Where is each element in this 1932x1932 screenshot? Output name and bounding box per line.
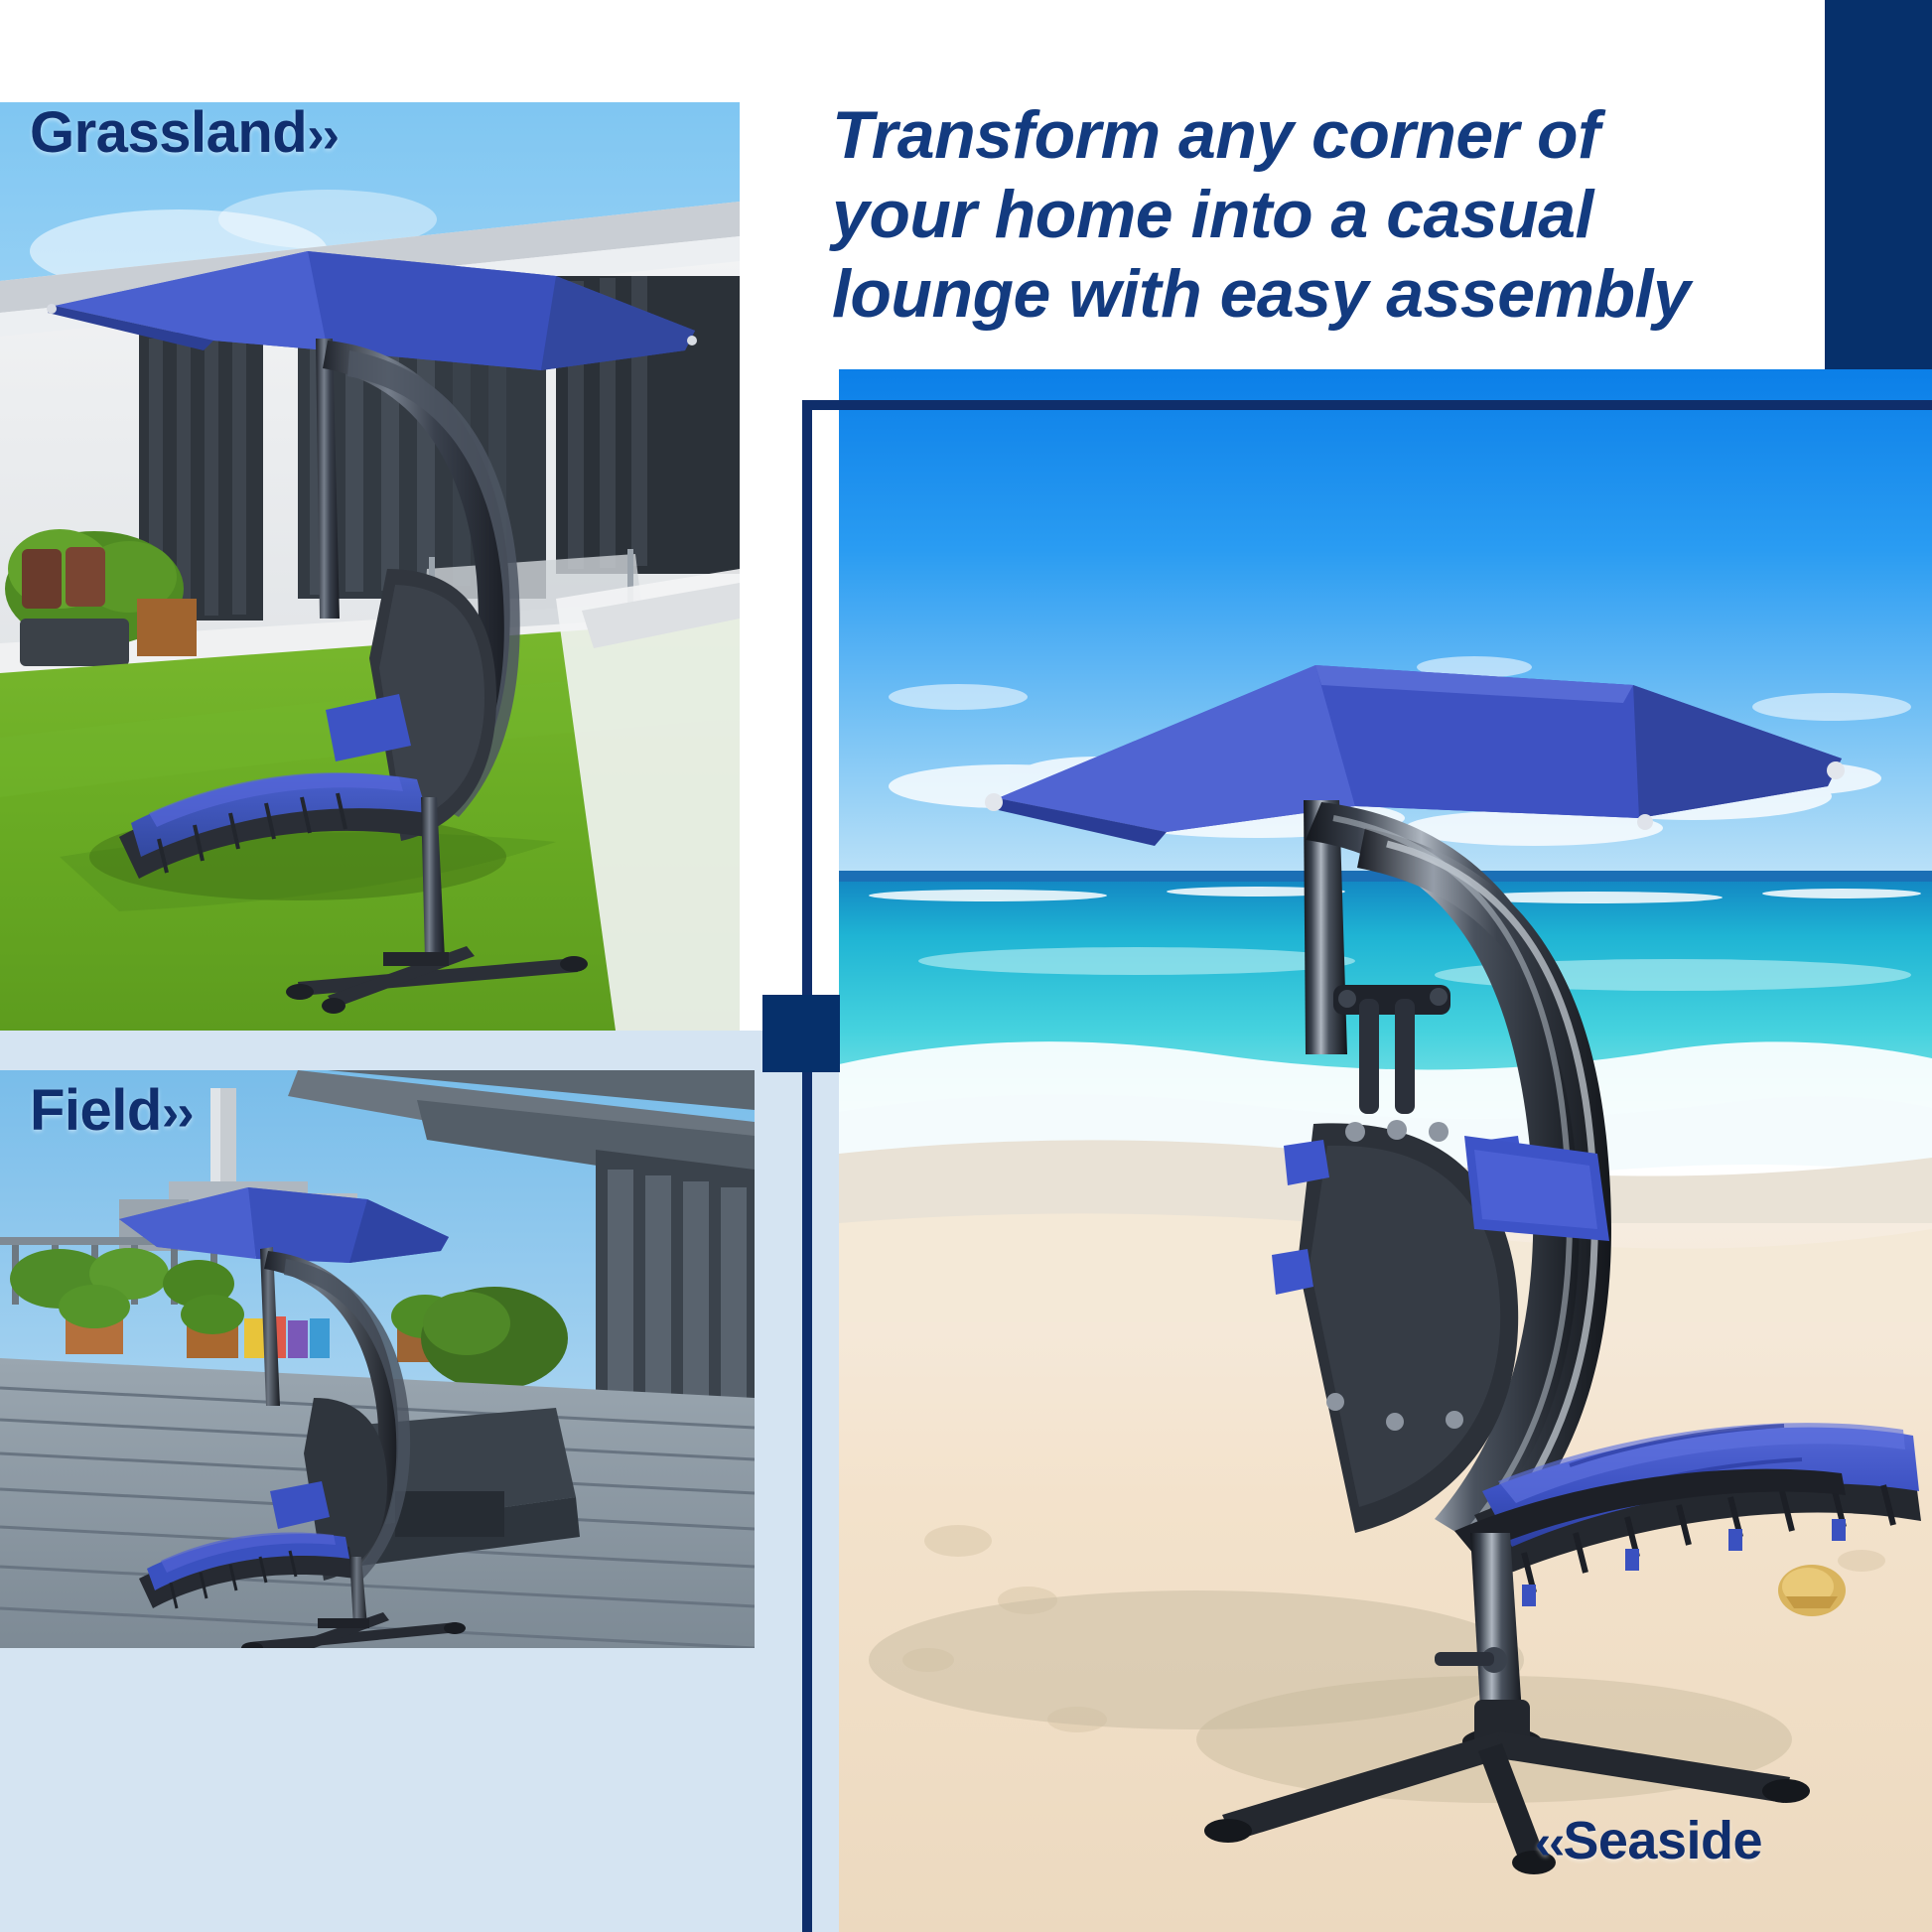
headline-line-2: your home into a casual — [832, 175, 1706, 254]
frame-line-left — [802, 400, 812, 1932]
field-scene — [0, 1070, 755, 1648]
headline-line-1: Transform any corner of — [832, 95, 1706, 175]
panel-field[interactable] — [0, 1070, 755, 1648]
poster-canvas: Transform any corner of your home into a… — [0, 0, 1932, 1932]
frame-line-top — [802, 400, 1932, 410]
headline: Transform any corner of your home into a… — [832, 95, 1706, 335]
label-field: Field›› — [30, 1077, 193, 1144]
navy-accent-square — [762, 995, 840, 1072]
navy-corner-block — [1825, 0, 1932, 397]
chevron-right-icon-field: ›› — [162, 1084, 193, 1142]
label-seaside: ‹‹Seaside — [1535, 1810, 1762, 1871]
chevron-left-icon-seaside: ‹‹ — [1535, 1816, 1563, 1869]
headline-line-3: lounge with easy assembly — [832, 254, 1706, 334]
panel-grassland[interactable] — [0, 102, 740, 1031]
chevron-right-icon-grassland: ›› — [307, 106, 338, 164]
seaside-scene — [839, 369, 1932, 1932]
label-grassland: Grassland›› — [30, 99, 338, 166]
panel-seaside[interactable] — [839, 369, 1932, 1932]
label-field-text: Field — [30, 1078, 162, 1143]
label-seaside-text: Seaside — [1563, 1811, 1762, 1870]
grassland-scene — [0, 102, 740, 1031]
label-grassland-text: Grassland — [30, 100, 307, 165]
